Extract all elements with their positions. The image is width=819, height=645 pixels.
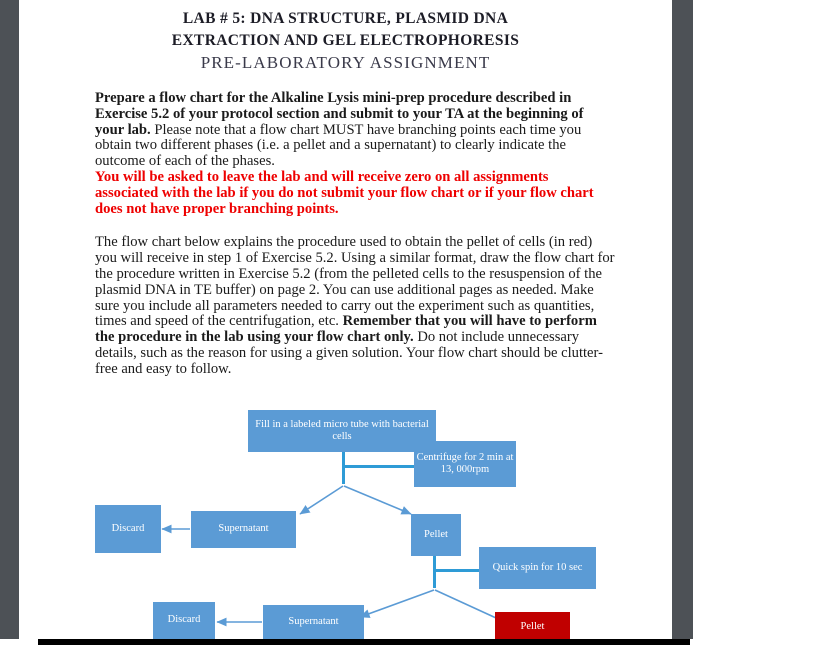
title-body-spacer xyxy=(19,73,672,91)
flow-node-pellet-1-label: Pellet xyxy=(424,529,448,542)
flow-node-quick-spin-label: Quick spin for 10 sec xyxy=(493,562,583,575)
connector-fill-to-split-vertical xyxy=(342,452,345,484)
paragraph-gap xyxy=(95,217,615,235)
flow-node-quick-spin[interactable]: Quick spin for 10 sec xyxy=(479,547,596,589)
screenshot-root: BIOL 1010 – FALL 2017) LAB # 5: DNA STRU… xyxy=(0,0,819,645)
page-title-line-3: PRE-LABORATORY ASSIGNMENT xyxy=(19,53,672,73)
flow-node-pellet-2[interactable]: Pellet xyxy=(495,612,570,639)
paragraph-instructions-1: Prepare a flow chart for the Alkaline Ly… xyxy=(95,91,615,170)
flow-node-fill-tube[interactable]: Fill in a labeled micro tube with bacter… xyxy=(248,410,436,452)
window-bottom-bar xyxy=(38,639,690,645)
flow-node-discard-2-label: Discard xyxy=(168,614,201,627)
document-body: Prepare a flow chart for the Alkaline Ly… xyxy=(19,91,672,378)
flow-node-supernatant-2-label: Supernatant xyxy=(288,616,338,629)
window-right-blank-area xyxy=(693,0,819,645)
page-title-line-2: EXTRACTION AND GEL ELECTROPHORESIS xyxy=(19,31,672,50)
flow-node-fill-tube-label: Fill in a labeled micro tube with bacter… xyxy=(248,419,436,444)
flow-node-pellet-2-label: Pellet xyxy=(521,621,545,634)
paragraph-instructions-2: The flow chart below explains the proced… xyxy=(95,235,615,377)
document-page: BIOL 1010 – FALL 2017) LAB # 5: DNA STRU… xyxy=(19,0,672,639)
connector-fill-to-centrifuge-horizontal xyxy=(342,465,414,468)
flow-node-discard-1-label: Discard xyxy=(112,523,145,536)
window-left-gutter xyxy=(0,0,19,639)
flow-node-supernatant-1-label: Supernatant xyxy=(218,523,268,536)
flow-node-pellet-1[interactable]: Pellet xyxy=(411,514,461,556)
flow-node-discard-1[interactable]: Discard xyxy=(95,505,161,553)
flow-node-supernatant-2[interactable]: Supernatant xyxy=(263,605,364,639)
window-right-gutter xyxy=(672,0,693,639)
flow-node-centrifuge[interactable]: Centrifuge for 2 min at 13, 000rpm xyxy=(414,441,516,487)
page-title-line-1: LAB # 5: DNA STRUCTURE, PLASMID DNA xyxy=(19,9,672,28)
paragraph-1-rest: Please note that a flow chart MUST have … xyxy=(95,122,581,170)
flow-node-discard-2[interactable]: Discard xyxy=(153,602,215,639)
flow-node-centrifuge-label: Centrifuge for 2 min at 13, 000rpm xyxy=(414,452,516,477)
red-warning-text: You will be asked to leave the lab and w… xyxy=(95,170,615,217)
flow-node-supernatant-1[interactable]: Supernatant xyxy=(191,511,296,548)
connector-pellet-to-split-vertical xyxy=(433,556,436,588)
document-title-block: BIOL 1010 – FALL 2017) LAB # 5: DNA STRU… xyxy=(19,0,672,73)
